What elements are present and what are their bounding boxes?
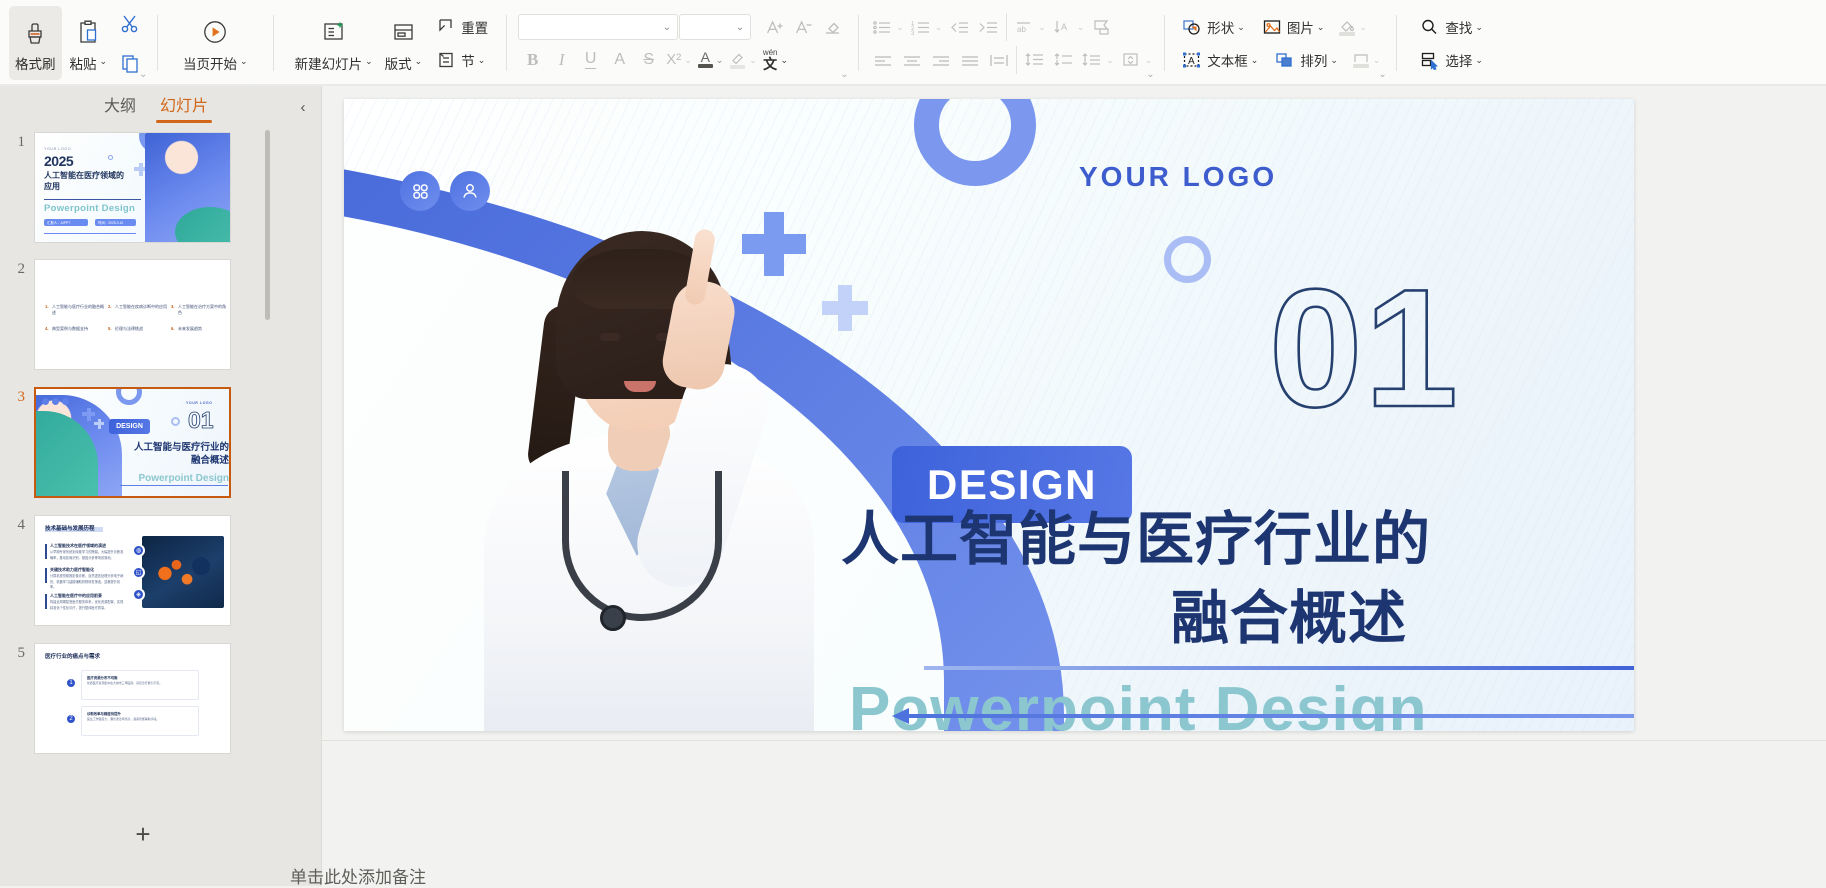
slide-title-line1: 人工智能与医疗行业的	[841, 492, 1431, 576]
chevron-left-icon: ‹	[301, 99, 306, 116]
justify-button[interactable]	[955, 45, 984, 74]
sort-button[interactable]: A ⌄	[1049, 12, 1088, 41]
thumb5-h: 医疗资源分布不均衡	[87, 675, 118, 680]
paste-label: 粘贴	[70, 53, 97, 73]
add-slide-button[interactable]: +	[130, 821, 156, 847]
paste-icon	[75, 16, 101, 48]
clear-format-button[interactable]	[818, 12, 847, 41]
line-spacing-button[interactable]	[1020, 45, 1049, 74]
shapes-button[interactable]: 形状 ⌄	[1178, 12, 1248, 41]
bullet-list-icon	[871, 18, 893, 36]
space-before-icon	[1053, 51, 1075, 68]
slide-editing-stage: YOUR LOGO 01 DESIGN 人工智能与医疗行业的 融合概述 Powe…	[322, 86, 1826, 886]
chevron-down-icon[interactable]: ⌄	[1077, 22, 1085, 33]
ring-decoration	[1164, 236, 1211, 283]
align-left-button[interactable]	[868, 45, 897, 74]
user-icon-button[interactable]	[450, 171, 490, 211]
scissors-icon	[118, 12, 142, 36]
smartart-button[interactable]	[1087, 12, 1116, 41]
chevron-down-icon[interactable]: ⌄	[478, 55, 486, 66]
smartart-icon	[1091, 18, 1113, 36]
thumb4-p: 从早期专家系统到深度学习的跨越，大幅提升诊断准确率，推动影像识别、基因分析等场景…	[50, 550, 124, 561]
thumb1-chip2: 时间：2025.3.10	[95, 219, 136, 226]
thumb3-badge: DESIGN	[109, 419, 150, 434]
new-slide-icon	[319, 16, 349, 48]
slide-big-number: 01	[1269, 264, 1460, 432]
chevron-down-icon[interactable]: ⌄	[736, 22, 744, 33]
align-right-icon	[930, 52, 952, 68]
grow-font-icon	[764, 16, 786, 38]
grow-font-button[interactable]	[760, 12, 789, 41]
tab-outline-label: 大纲	[104, 98, 136, 115]
thumbnail-scrollbar[interactable]	[265, 130, 270, 786]
slide-navigation-pane: 大纲 幻灯片 ‹ 1 YOU	[0, 86, 322, 886]
chevron-down-icon[interactable]: ⌄	[716, 55, 724, 66]
chevron-down-icon[interactable]: ⌄	[684, 55, 692, 66]
chevron-down-icon[interactable]: ⌄	[1475, 22, 1483, 33]
picture-icon	[1261, 17, 1283, 37]
align-center-button[interactable]	[897, 45, 926, 74]
increase-indent-button[interactable]	[974, 12, 1003, 41]
shrink-font-icon	[793, 16, 815, 38]
plus-icon: +	[135, 819, 150, 850]
ribbon-divider	[1164, 15, 1165, 71]
select-button[interactable]: 选择 ⌄	[1416, 45, 1486, 74]
pictures-label: 图片	[1287, 17, 1314, 37]
tab-slides[interactable]: 幻灯片	[154, 89, 214, 124]
underline-button[interactable]: U	[576, 45, 605, 74]
badge-1-icon: 1	[65, 677, 77, 689]
ribbon-divider	[1396, 15, 1397, 71]
new-slide-button[interactable]: 新建幻灯片 ⌄	[289, 6, 379, 80]
thumb5-p: 优质医疗资源集中在大城市三甲医院，基层诊疗能力不足。	[87, 681, 187, 686]
thumb5-h: 诊断效率与精度待提升	[87, 711, 121, 716]
tab-outline[interactable]: 大纲	[98, 89, 142, 124]
tab-slides-label: 幻灯片	[160, 98, 208, 115]
notes-divider	[322, 740, 1826, 741]
thumb1-logo: YOUR LOGO	[44, 147, 71, 151]
chevron-down-icon[interactable]: ⌄	[1251, 55, 1259, 66]
arrow-line-decoration	[908, 714, 1634, 718]
thumb3-title: 人工智能与医疗行业的 融合概述	[94, 441, 231, 468]
clear-format-icon	[822, 16, 844, 38]
arrange-label: 排列	[1300, 50, 1327, 70]
slide-title-line2: 融合概述	[1171, 571, 1407, 655]
thumb5-p: 医生工作强度大，漏诊误诊风险高，亟需智能辅助手段。	[87, 717, 187, 722]
toc-text: 人工智能与医疗行业的融合概述	[52, 304, 104, 316]
select-objects-icon	[1419, 50, 1441, 70]
chevron-down-icon[interactable]: ⌄	[1373, 55, 1381, 66]
textbox-button[interactable]: A 文本框 ⌄	[1178, 45, 1261, 74]
fill-color-button[interactable]: ⌄	[1335, 12, 1370, 41]
start-from-current-button[interactable]: 当页开始 ⌄	[177, 6, 254, 80]
thumbnail-item-4[interactable]: 4 技术基础与发展历程 人工智能技术在医疗领域的演进 从早期专家系统到深度学习的…	[0, 515, 300, 626]
scrollbar-thumb[interactable]	[265, 130, 270, 320]
arrange-button[interactable]: 排列 ⌄	[1271, 45, 1341, 74]
distribute-text-button[interactable]	[984, 45, 1013, 74]
chevron-down-icon[interactable]: ⌄	[100, 56, 108, 67]
badge-user-icon: ◍	[132, 544, 145, 557]
ribbon-divider	[273, 15, 274, 71]
pane-tab-bar: 大纲 幻灯片 ‹	[0, 86, 322, 126]
format-painter-icon	[21, 16, 49, 48]
superscript-button[interactable]: X² ⌄	[663, 45, 695, 74]
drawing-dialog-launcher[interactable]: ⌄	[1378, 70, 1388, 80]
thumb1-year: 2025	[44, 153, 73, 169]
superscript-icon: X²	[666, 51, 681, 68]
italic-icon: I	[559, 50, 565, 70]
font-dialog-launcher[interactable]: ⌄	[840, 70, 850, 80]
search-icon	[1419, 17, 1441, 37]
align-left-icon	[872, 52, 894, 68]
format-painter-label: 格式刷	[15, 53, 56, 73]
thumb1-subtitle: Powerpoint Design	[44, 203, 135, 214]
thumb3-subtitle: Powerpoint Design	[94, 473, 231, 484]
thumb4-h: 关键技术助力医疗智能化	[50, 567, 94, 573]
current-slide-canvas[interactable]: YOUR LOGO 01 DESIGN 人工智能与医疗行业的 融合概述 Powe…	[344, 99, 1634, 731]
arrange-icon	[1274, 50, 1296, 70]
chevron-down-icon[interactable]: ⌄	[896, 22, 904, 33]
font-color-button[interactable]: A ⌄	[695, 45, 727, 74]
thumb3-bignum: 01	[188, 409, 214, 432]
toc-text: 伦理与法律挑战	[115, 326, 167, 332]
numbered-list-button[interactable]: 1 2 3 ⌄	[907, 12, 946, 41]
decrease-indent-icon	[949, 18, 971, 36]
layout-button[interactable]: 版式 ⌄	[379, 6, 429, 80]
chevron-down-icon[interactable]: ⌄	[1330, 55, 1338, 66]
highlight-button[interactable]: ⌄	[726, 45, 760, 74]
title-underline	[924, 666, 1634, 670]
thumbnail-number: 2	[0, 259, 34, 370]
new-slide-label: 新建幻灯片	[295, 53, 363, 73]
chevron-down-icon[interactable]: ⌄	[1038, 22, 1046, 33]
svg-text:A: A	[1188, 56, 1195, 67]
line-spacing-icon	[1024, 51, 1046, 68]
section-button[interactable]: 节 ⌄	[432, 45, 488, 74]
thumbnail-preview[interactable]: 技术基础与发展历程 人工智能技术在医疗领域的演进 从早期专家系统到深度学习的跨越…	[34, 515, 231, 626]
badge-flask-icon: ◈	[132, 588, 145, 601]
chevron-down-icon[interactable]: ⌄	[1106, 55, 1114, 66]
toc-text: 未来发展趋势	[178, 326, 226, 332]
toc-num: 5.	[108, 326, 112, 331]
font-color-icon: A	[698, 51, 713, 68]
toc-text: 典型案例与数据支持	[52, 326, 104, 332]
layout-label: 版式	[385, 53, 412, 73]
toc-num: 1.	[45, 304, 49, 309]
thumbnail-item-2[interactable]: 2 1. 人工智能与医疗行业的融合概述 2. 人工智能在疾病诊断中的应用 3. …	[0, 259, 300, 370]
thumbnail-number: 3	[0, 387, 34, 498]
svg-text:A: A	[1061, 22, 1067, 32]
toc-num: 4.	[45, 326, 49, 331]
chevron-down-icon[interactable]: ⌄	[935, 22, 943, 33]
thumb5-title: 医疗行业的痛点与需求	[45, 652, 100, 660]
ribbon-group-slides: 新建幻灯片 ⌄ 版式 ⌄	[277, 0, 504, 86]
text-direction-button[interactable]: ab ⌄	[1010, 12, 1049, 41]
strikethrough-button[interactable]: S	[634, 45, 663, 74]
badge-2-icon: 2	[65, 713, 77, 725]
toc-text: 人工智能在治疗方案中的角色	[178, 304, 226, 316]
pinyin-guide-button[interactable]: wén 文 ⌄	[760, 45, 791, 74]
paragraph-spacing-button[interactable]: ⌄	[1078, 45, 1117, 74]
text-direction-icon: ab	[1013, 18, 1035, 36]
font-name-combobox[interactable]: ⌄	[518, 14, 678, 40]
bold-button[interactable]: B	[518, 45, 547, 74]
section-icon	[435, 49, 457, 71]
pinyin-guide-icon: wén 文	[763, 49, 778, 71]
chevron-down-icon[interactable]: ⌄	[365, 56, 373, 67]
ribbon-group-editing: 查找 ⌄ 选择 ⌄	[1400, 0, 1502, 86]
paragraph-spacing-icon	[1081, 51, 1103, 68]
thumbnail-preview-selected[interactable]: DESIGN 01 YOUR LOGO 人工智能与医疗行业的 融合概述 Powe…	[34, 387, 231, 498]
ribbon-group-font: ⌄ ⌄	[510, 0, 855, 86]
thumb1-chip1: 汇报人：AIPPT	[44, 219, 88, 226]
chevron-down-icon[interactable]: ⌄	[240, 56, 248, 67]
underline-icon: U	[585, 50, 597, 69]
ribbon-group-drawing: 形状 ⌄ 图片 ⌄	[1168, 0, 1393, 86]
shapes-label: 形状	[1207, 17, 1234, 37]
decrease-indent-button[interactable]	[945, 12, 974, 41]
thumbnail-preview[interactable]: 1. 人工智能与医疗行业的融合概述 2. 人工智能在疾病诊断中的应用 3. 人工…	[34, 259, 231, 370]
thumb4-p: 计算机视觉助推影像诊断，自然语言处理分析电子病历，机器学习建模辅助药物研发筛选，…	[50, 574, 124, 591]
align-text-vertical-icon	[1120, 51, 1142, 68]
ribbon-group-paragraph: ⌄ 1 2 3 ⌄	[862, 0, 1161, 86]
italic-button[interactable]: I	[547, 45, 576, 74]
ribbon-divider	[506, 15, 507, 71]
reset-label: 重置	[461, 17, 488, 37]
thumb3-logo: YOUR LOGO	[186, 401, 212, 405]
start-from-current-label: 当页开始	[183, 53, 237, 73]
thumb4-p: 构建全周期智慧医疗服务体系，优化资源配置，实现精准化个性化诊疗，提升整体医疗质量…	[50, 600, 124, 611]
section-label: 节	[461, 50, 475, 70]
chevron-down-icon[interactable]: ⌄	[781, 55, 789, 66]
slide-thumbnail-list: 1 YOUR LOGO 2025 人工智能在医疗领域的 应用 Pow	[0, 126, 322, 786]
fill-color-icon	[1338, 18, 1356, 36]
slide-subtitle: Powerpoint Design	[849, 674, 1427, 731]
slide-logo-text: YOUR LOGO	[1079, 161, 1277, 193]
clipboard-dialog-launcher[interactable]: ⌄	[139, 70, 149, 80]
thumbnail-item-1[interactable]: 1 YOUR LOGO 2025 人工智能在医疗领域的 应用 Pow	[0, 132, 300, 243]
cut-button[interactable]	[115, 10, 145, 39]
toc-text: 人工智能在疾病诊断中的应用	[115, 304, 167, 310]
thumb1-title: 人工智能在医疗领域的 应用	[44, 171, 139, 193]
notes-placeholder: 单击此处添加备注	[290, 863, 426, 888]
highlight-icon	[729, 51, 746, 69]
paste-button[interactable]: 粘贴 ⌄	[64, 6, 114, 80]
toc-num: 6.	[171, 326, 175, 331]
thumb4-title: 技术基础与发展历程	[45, 524, 95, 532]
pictures-button[interactable]: 图片 ⌄	[1258, 12, 1328, 41]
doctor-photo	[432, 185, 852, 731]
find-label: 查找	[1445, 17, 1472, 37]
chevron-down-icon[interactable]: ⌄	[1359, 22, 1367, 33]
thumbnail-number: 4	[0, 515, 34, 626]
svg-text:ab: ab	[1017, 25, 1026, 34]
chevron-down-icon[interactable]: ⌄	[1145, 55, 1153, 66]
textbox-label: 文本框	[1207, 50, 1248, 70]
space-before-button[interactable]	[1049, 45, 1078, 74]
paragraph-dialog-launcher[interactable]: ⌄	[1146, 70, 1156, 80]
svg-text:3: 3	[911, 31, 915, 36]
strikethrough-icon: S	[643, 51, 654, 69]
apps-grid-icon-button[interactable]	[400, 171, 440, 211]
thumb4-h: 人工智能技术在医疗领域的演进	[50, 543, 106, 549]
font-size-combobox[interactable]: ⌄	[679, 14, 751, 40]
chevron-down-icon[interactable]: ⌄	[415, 56, 423, 67]
sort-icon: A	[1052, 18, 1074, 36]
distribute-text-icon	[988, 52, 1010, 68]
layout-icon	[389, 16, 417, 48]
ribbon-divider	[858, 15, 859, 71]
quick-style-icon	[1352, 51, 1370, 68]
select-label: 选择	[1445, 50, 1472, 70]
badge-chart-icon: ◱	[132, 566, 145, 579]
arrow-head-decoration	[892, 708, 909, 724]
format-painter-button[interactable]: 格式刷	[9, 6, 62, 80]
thumbnail-preview[interactable]: 医疗行业的痛点与需求 1 医疗资源分布不均衡 优质医疗资源集中在大城市三甲医院，…	[34, 643, 231, 754]
notes-pane[interactable]: 单击此处添加备注	[322, 860, 1826, 886]
bold-icon: B	[527, 50, 538, 70]
play-circle-icon	[200, 16, 230, 48]
find-button[interactable]: 查找 ⌄	[1416, 12, 1486, 41]
shapes-icon	[1181, 17, 1203, 37]
thumbnail-preview[interactable]: YOUR LOGO 2025 人工智能在医疗领域的 应用 Powerpoint …	[34, 132, 231, 243]
thumbnail-number: 1	[0, 132, 34, 243]
chevron-down-icon[interactable]: ⌄	[663, 22, 671, 33]
increase-indent-icon	[978, 18, 1000, 36]
numbered-list-icon: 1 2 3	[910, 18, 932, 36]
ribbon-group-slideshow: 当页开始 ⌄	[161, 0, 270, 86]
toc-num: 2.	[108, 304, 112, 309]
ribbon-divider	[157, 15, 158, 71]
thumb4-h: 人工智能在医疗中的应用前景	[50, 593, 102, 599]
ribbon-group-clipboard: 格式刷 粘贴 ⌄	[0, 0, 154, 86]
chevron-down-icon[interactable]: ⌄	[1475, 55, 1483, 66]
reset-button[interactable]: 重置	[432, 12, 491, 41]
chevron-down-icon[interactable]: ⌄	[1317, 22, 1325, 33]
thumbnail-number: 5	[0, 643, 34, 754]
thumbnail-item-5[interactable]: 5 医疗行业的痛点与需求 1 医疗资源分布不均衡 优质医疗资源集中在大城市三甲医…	[0, 643, 300, 754]
shrink-font-button[interactable]	[789, 12, 818, 41]
text-shadow-button[interactable]: A	[605, 45, 634, 74]
chevron-down-icon[interactable]: ⌄	[749, 55, 757, 66]
bullet-list-button[interactable]: ⌄	[868, 12, 907, 41]
justify-icon	[959, 52, 981, 68]
thumbnail-item-3[interactable]: 3 DESIGN 01 YOUR LOGO	[0, 387, 300, 498]
align-center-icon	[901, 52, 923, 68]
align-right-button[interactable]	[926, 45, 955, 74]
ribbon-toolbar: 格式刷 粘贴 ⌄	[0, 0, 1826, 86]
chevron-down-icon[interactable]: ⌄	[1237, 22, 1245, 33]
text-effect-icon: A	[614, 51, 625, 69]
toc-num: 3.	[171, 304, 175, 309]
reset-icon	[435, 16, 457, 38]
textbox-icon: A	[1181, 50, 1203, 70]
collapse-pane-button[interactable]: ‹	[292, 96, 314, 118]
